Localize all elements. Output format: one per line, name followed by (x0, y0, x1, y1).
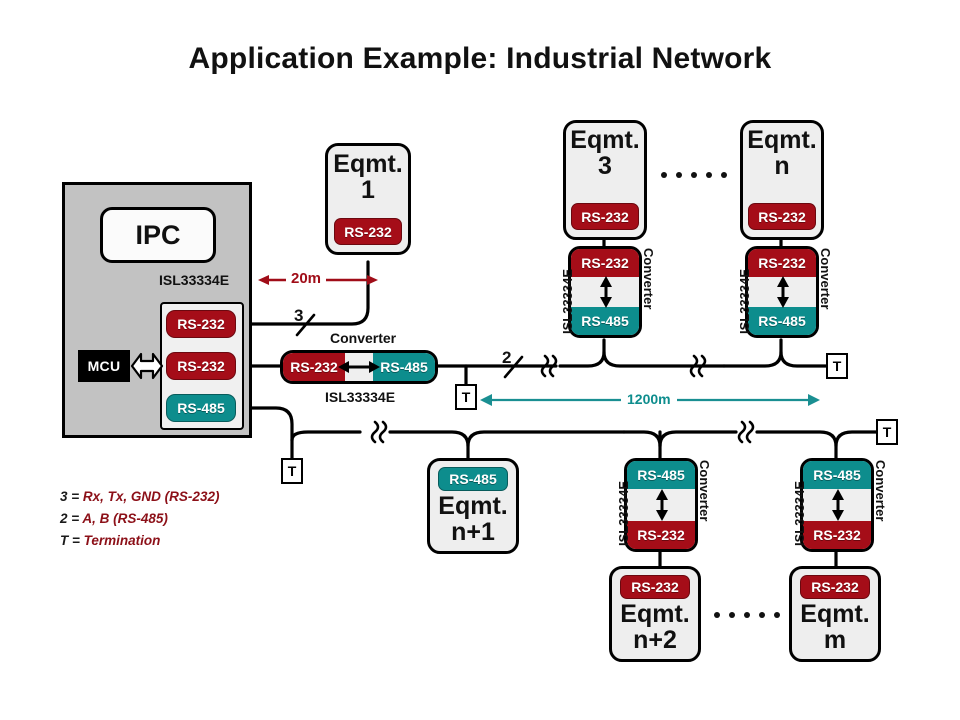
converter-vertical-eqmt-n-bidirectional-arrow-icon (774, 276, 792, 308)
equipment-eqmt-n-name: Eqmt. n (747, 128, 816, 179)
ipc-part-label: ISL33334E (159, 272, 229, 288)
legend-line-3: T = Termination (60, 530, 219, 552)
mcu-block: MCU (78, 350, 130, 382)
wire-marker-2-label: 2 (502, 348, 511, 368)
converter-vertical-eqmt-m-type-label: Converter (873, 460, 888, 521)
ipc-port-rs485[interactable]: RS-485 (166, 394, 236, 422)
equipment-eqmt-n[interactable]: Eqmt. n RS-232 (740, 120, 824, 240)
converter-vertical-eqmt-m-part-label: ISL33334E (792, 481, 807, 546)
ellipsis-dot (729, 612, 735, 618)
equipment-eqmt-n1[interactable]: RS-485 Eqmt. n+1 (427, 458, 519, 554)
legend-value-2: A, B (RS-485) (82, 511, 168, 526)
ellipsis-dot (691, 172, 697, 178)
ellipsis-dot (759, 612, 765, 618)
equipment-eqmt-1[interactable]: Eqmt. 1 RS-232 (325, 143, 411, 255)
converter-vertical-eqmt-m-rs232-badge[interactable]: RS-232 (803, 521, 871, 549)
terminator-left-bus[interactable]: T (455, 384, 477, 410)
mcu-label: MCU (88, 358, 121, 374)
converter-horizontal-top-label: Converter (330, 330, 396, 346)
converter-vertical-eqmt-n2-part-label: ISL33334E (616, 481, 631, 546)
ellipsis-dot (774, 612, 780, 618)
equipment-eqmt-3-name: Eqmt. 3 (570, 128, 639, 179)
converter-vertical-eqmt-3-rs232-badge[interactable]: RS-232 (571, 249, 639, 277)
converter-vertical-eqmt-n2-bidirectional-arrow-icon (653, 489, 671, 521)
converter-vertical-eqmt-n2-rs485-badge[interactable]: RS-485 (627, 461, 695, 489)
converter-horizontal-rs485-badge[interactable]: RS-485 (373, 353, 435, 381)
ipc-box: IPC (100, 207, 216, 263)
equipment-eqmt-n2-name: Eqmt. n+2 (620, 602, 689, 653)
page-title: Application Example: Industrial Network (0, 42, 960, 76)
equipment-eqmt-1-name: Eqmt. 1 (333, 152, 402, 203)
equipment-eqmt-3-port-badge[interactable]: RS-232 (571, 203, 639, 230)
ipc-label: IPC (135, 220, 180, 251)
ipc-port-rs232-2[interactable]: RS-232 (166, 352, 236, 380)
equipment-eqmt-n1-name: Eqmt. n+1 (438, 494, 507, 545)
ellipsis-dot (706, 172, 712, 178)
converter-vertical-eqmt-m-bidirectional-arrow-icon (829, 489, 847, 521)
terminator-right-bus[interactable]: T (826, 353, 848, 379)
ellipsis-dot (744, 612, 750, 618)
equipment-eqmt-n-port-badge[interactable]: RS-232 (748, 203, 816, 230)
equipment-eqmt-m-port-badge[interactable]: RS-232 (800, 575, 870, 599)
converter-horizontal-part-label: ISL33334E (325, 389, 395, 405)
legend-value-t: Termination (84, 533, 161, 548)
equipment-eqmt-n1-port-badge[interactable]: RS-485 (438, 467, 508, 491)
converter-vertical-eqmt-n-rs232-badge[interactable]: RS-232 (748, 249, 816, 277)
legend-key-t: T = (60, 533, 80, 548)
dimension-1200m-label: 1200m (621, 391, 677, 407)
converter-vertical-eqmt-n-type-label: Converter (818, 248, 833, 309)
equipment-eqmt-m[interactable]: RS-232 Eqmt. m (789, 566, 881, 662)
legend-value-3: Rx, Tx, GND (RS-232) (83, 489, 220, 504)
ellipsis-dot (721, 172, 727, 178)
diagram-canvas: Application Example: Industrial Network (0, 0, 960, 720)
equipment-eqmt-1-port-badge[interactable]: RS-232 (334, 218, 402, 245)
converter-vertical-eqmt-n2-type-label: Converter (697, 460, 712, 521)
converter-vertical-eqmt-n2-rs232-badge[interactable]: RS-232 (627, 521, 695, 549)
converter-horizontal-bidirectional-arrow-icon (338, 358, 380, 376)
legend-key-2: 2 = (60, 511, 79, 526)
ellipsis-dot (676, 172, 682, 178)
equipment-eqmt-n2[interactable]: RS-232 Eqmt. n+2 (609, 566, 701, 662)
converter-vertical-eqmt-3-part-label: ISL33334E (560, 269, 575, 334)
mcu-bus-arrow-icon (130, 344, 164, 388)
converter-vertical-eqmt-3-type-label: Converter (641, 248, 656, 309)
converter-vertical-eqmt-3-rs485-badge[interactable]: RS-485 (571, 307, 639, 335)
wire-marker-3-label: 3 (294, 306, 303, 326)
converter-horizontal-rs232-badge[interactable]: RS-232 (283, 353, 345, 381)
ellipsis-bottom (714, 612, 780, 618)
ellipsis-top (661, 172, 727, 178)
legend-line-2: 2 = A, B (RS-485) (60, 508, 219, 530)
ipc-port-rs232-1[interactable]: RS-232 (166, 310, 236, 338)
converter-vertical-eqmt-m-rs485-badge[interactable]: RS-485 (803, 461, 871, 489)
legend-line-1: 3 = Rx, Tx, GND (RS-232) (60, 486, 219, 508)
ellipsis-dot (714, 612, 720, 618)
equipment-eqmt-3[interactable]: Eqmt. 3 RS-232 (563, 120, 647, 240)
converter-vertical-eqmt-3-bidirectional-arrow-icon (597, 276, 615, 308)
legend-key-3: 3 = (60, 489, 79, 504)
equipment-eqmt-n2-port-badge[interactable]: RS-232 (620, 575, 690, 599)
legend: 3 = Rx, Tx, GND (RS-232) 2 = A, B (RS-48… (60, 486, 219, 552)
equipment-eqmt-m-name: Eqmt. m (800, 602, 869, 653)
converter-vertical-eqmt-n-part-label: ISL33334E (737, 269, 752, 334)
ellipsis-dot (661, 172, 667, 178)
converter-vertical-eqmt-n-rs485-badge[interactable]: RS-485 (748, 307, 816, 335)
terminator-bottom-right[interactable]: T (876, 419, 898, 445)
dimension-20m-label: 20m (286, 270, 326, 287)
terminator-bottom-left[interactable]: T (281, 458, 303, 484)
